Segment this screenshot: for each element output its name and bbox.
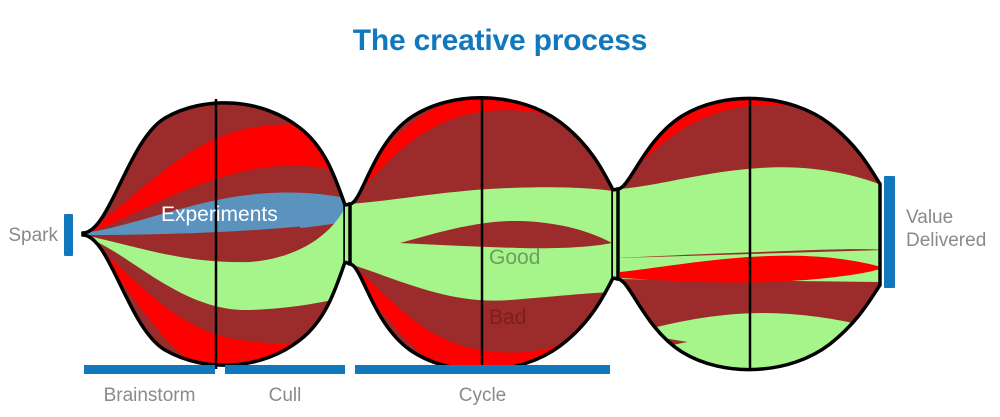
lobe-value bbox=[610, 79, 900, 390]
spark-marker-bar bbox=[64, 214, 73, 256]
lobe-cycle-1 bbox=[340, 80, 630, 390]
spark-label: Spark bbox=[8, 224, 58, 247]
phase-bar-brainstorm bbox=[84, 365, 215, 374]
phase-label-cull: Cull bbox=[225, 385, 345, 407]
value-delivered-marker-bar bbox=[884, 176, 895, 288]
phase-bar-cull bbox=[225, 365, 345, 374]
phase-bar-cycle bbox=[355, 365, 610, 374]
phase-label-cycle: Cycle bbox=[355, 385, 610, 407]
value-delivered-label-line2: Delivered bbox=[906, 229, 1000, 252]
value-delivered-label: Value Delivered bbox=[906, 206, 1000, 252]
band-label-experiments: Experiments bbox=[161, 203, 278, 227]
creative-process-flow bbox=[0, 0, 1000, 417]
phase-label-brainstorm: Brainstorm bbox=[84, 385, 215, 407]
band-label-good: Good bbox=[489, 246, 540, 270]
band-label-bad: Bad bbox=[489, 306, 526, 330]
value-delivered-label-line1: Value bbox=[906, 206, 1000, 229]
diagram-canvas: The creative process bbox=[0, 0, 1000, 417]
